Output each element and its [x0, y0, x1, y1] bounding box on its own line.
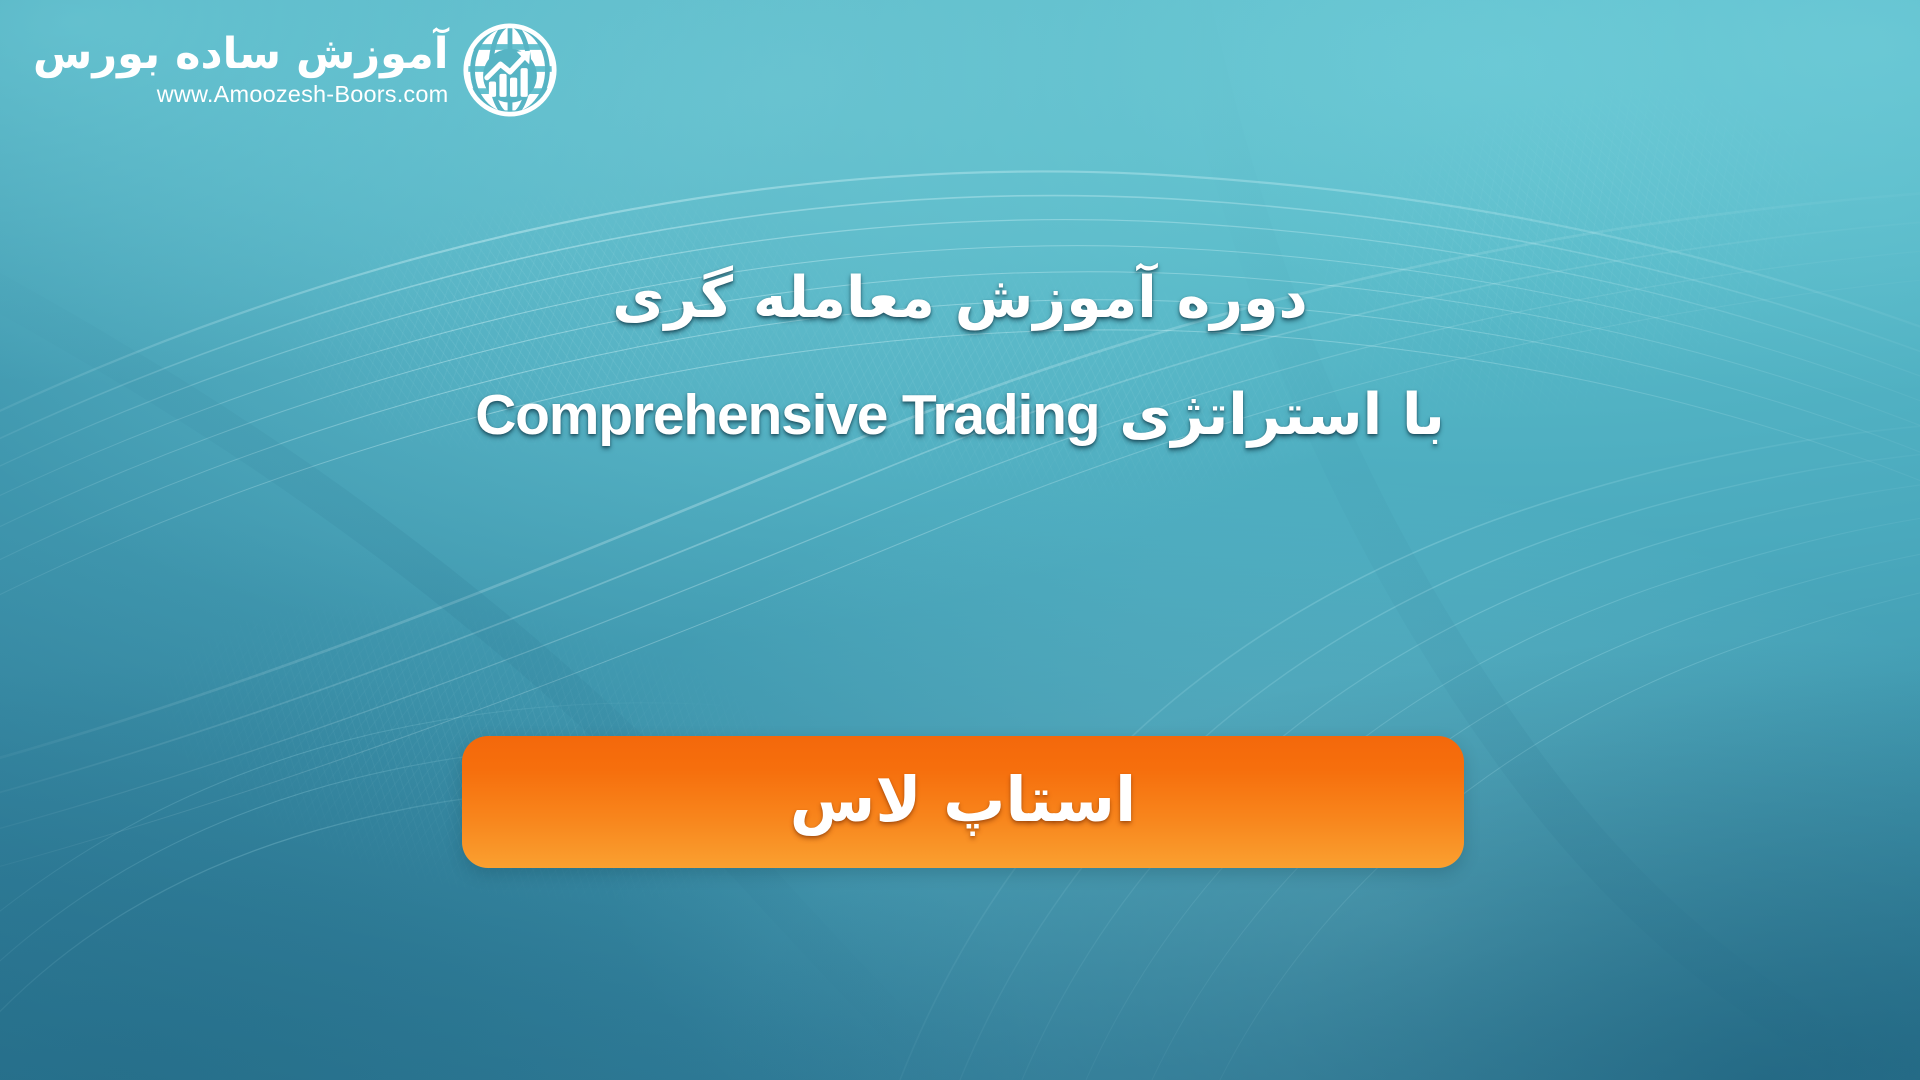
background-bottom-shading	[0, 0, 1920, 1080]
stop-loss-cta-button[interactable]: استاپ لاس	[462, 736, 1464, 868]
headline-line-2-prefix: با استراتژی	[1119, 382, 1445, 448]
brand-logo[interactable]: آموزش ساده بورس www.Amoozesh-Boors.com	[33, 22, 558, 118]
headline-line-1: دوره آموزش معامله گری	[0, 262, 1920, 335]
brand-website-url: www.Amoozesh-Boors.com	[157, 83, 449, 107]
brand-name-fa: آموزش ساده بورس	[33, 33, 448, 76]
headline-line-2: با استراتژی Comprehensive Trading	[0, 379, 1920, 452]
headline-line-2-strategy-name: Comprehensive Trading	[475, 383, 1099, 447]
brand-text-group: آموزش ساده بورس www.Amoozesh-Boors.com	[33, 33, 448, 107]
headline-group: دوره آموزش معامله گری با استراتژی Compre…	[0, 262, 1920, 452]
globe-chart-icon	[462, 22, 558, 118]
promo-banner: آموزش ساده بورس www.Amoozesh-Boors.com د…	[0, 0, 1920, 1080]
stop-loss-cta-label: استاپ لاس	[790, 769, 1136, 831]
